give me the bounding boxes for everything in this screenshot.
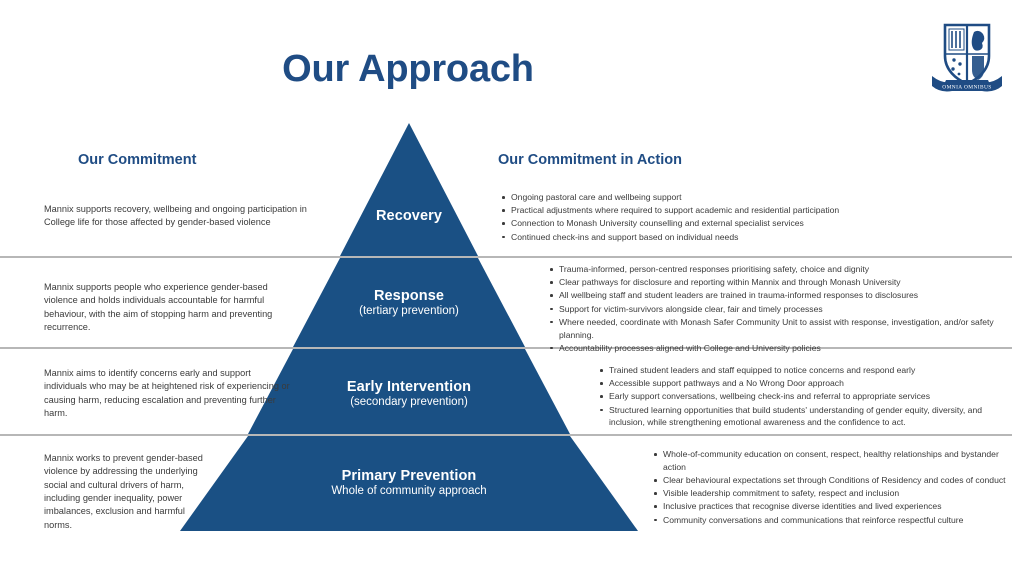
list-item: Whole-of-community education on consent,… bbox=[652, 448, 1012, 473]
tier-label-primary-sub: Whole of community approach bbox=[299, 485, 519, 497]
column-heading-our-commitment-in-action: Our Commitment in Action bbox=[498, 152, 682, 168]
list-item: Support for victim-survivors alongside c… bbox=[548, 303, 1016, 316]
tier-divider-early-primary bbox=[0, 434, 1012, 436]
list-item: Connection to Monash University counsell… bbox=[500, 217, 900, 230]
commitment-text-response: Mannix supports people who experience ge… bbox=[44, 281, 302, 334]
page-title: Our Approach bbox=[0, 48, 816, 91]
list-item: All wellbeing staff and student leaders … bbox=[548, 289, 1016, 302]
list-item: Early support conversations, wellbeing c… bbox=[598, 390, 1018, 403]
actions-list-recovery: Ongoing pastoral care and wellbeing supp… bbox=[500, 191, 900, 244]
tier-label-primary-prevention: Primary Prevention Whole of community ap… bbox=[299, 468, 519, 497]
tier-label-recovery-main: Recovery bbox=[334, 208, 484, 224]
commitment-text-recovery: Mannix supports recovery, wellbeing and … bbox=[44, 203, 324, 230]
tier-label-response-main: Response bbox=[324, 288, 494, 304]
pyramid-tier-recovery bbox=[340, 123, 478, 256]
list-item: Where needed, coordinate with Monash Saf… bbox=[548, 316, 1016, 341]
mannix-college-crest-logo: OMNIA OMNIBUS bbox=[928, 16, 1006, 98]
tier-label-early-intervention: Early Intervention (secondary prevention… bbox=[309, 379, 509, 408]
list-item: Inclusive practices that recognise diver… bbox=[652, 500, 1012, 513]
list-item: Accessible support pathways and a No Wro… bbox=[598, 377, 1018, 390]
crest-motto-text: OMNIA OMNIBUS bbox=[942, 85, 991, 91]
list-item: Continued check-ins and support based on… bbox=[500, 231, 900, 244]
tier-label-early-main: Early Intervention bbox=[309, 379, 509, 395]
tier-divider-recovery-response bbox=[0, 256, 1012, 258]
tier-label-recovery: Recovery bbox=[334, 208, 484, 224]
list-item: Clear behavioural expectations set throu… bbox=[652, 474, 1012, 487]
tier-label-response: Response (tertiary prevention) bbox=[324, 288, 494, 317]
slide-canvas: Our Approach OMNIA OMNIBUS bbox=[0, 0, 1024, 576]
column-heading-our-commitment: Our Commitment bbox=[78, 152, 196, 168]
list-item: Accountability processes aligned with Co… bbox=[548, 342, 1016, 355]
list-item: Visible leadership commitment to safety,… bbox=[652, 487, 1012, 500]
list-item: Structured learning opportunities that b… bbox=[598, 404, 1018, 429]
list-item: Ongoing pastoral care and wellbeing supp… bbox=[500, 191, 900, 204]
list-item: Trained student leaders and staff equipp… bbox=[598, 364, 1018, 377]
tier-label-response-sub: (tertiary prevention) bbox=[324, 305, 494, 317]
tier-label-early-sub: (secondary prevention) bbox=[309, 396, 509, 408]
tier-label-primary-main: Primary Prevention bbox=[299, 468, 519, 484]
list-item: Trauma-informed, person-centred response… bbox=[548, 263, 1016, 276]
actions-list-early-intervention: Trained student leaders and staff equipp… bbox=[598, 364, 1018, 430]
actions-list-primary-prevention: Whole-of-community education on consent,… bbox=[652, 448, 1012, 527]
commitment-text-primary-prevention: Mannix works to prevent gender-based vio… bbox=[44, 452, 204, 532]
list-item: Community conversations and communicatio… bbox=[652, 514, 1012, 527]
actions-list-response: Trauma-informed, person-centred response… bbox=[548, 263, 1016, 355]
commitment-text-early-intervention: Mannix aims to identify concerns early a… bbox=[44, 367, 292, 420]
list-item: Practical adjustments where required to … bbox=[500, 204, 900, 217]
list-item: Clear pathways for disclosure and report… bbox=[548, 276, 1016, 289]
